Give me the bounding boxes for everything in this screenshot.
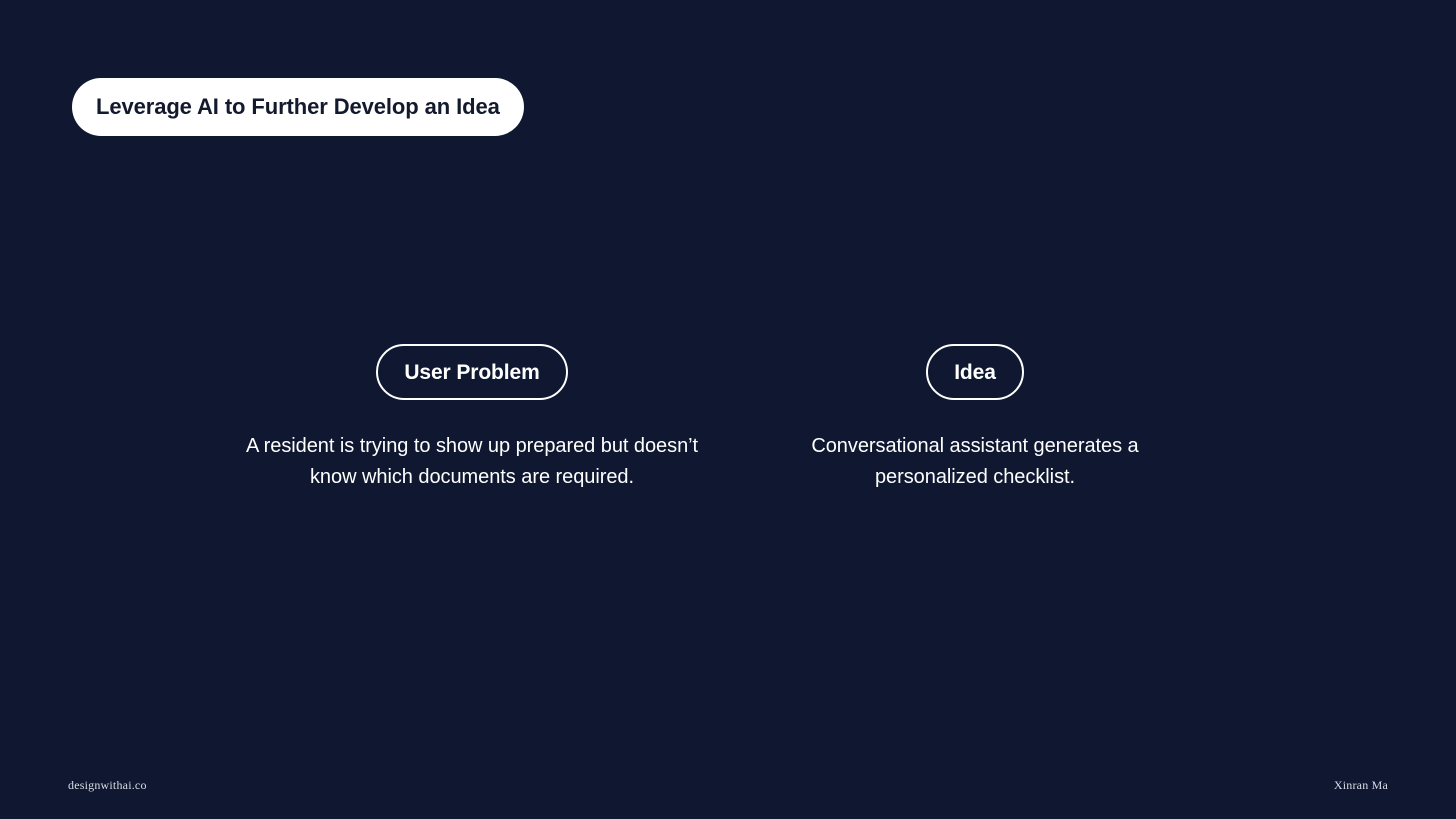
idea-body-text: Conversational assistant generates a per… bbox=[785, 431, 1165, 493]
slide-canvas: Leverage AI to Further Develop an Idea U… bbox=[0, 0, 1456, 819]
footer-site-credit: designwithai.co bbox=[68, 779, 147, 791]
idea-pill: Idea bbox=[926, 344, 1024, 400]
footer-author-credit: Xinran Ma bbox=[1334, 779, 1388, 791]
page-title: Leverage AI to Further Develop an Idea bbox=[96, 96, 500, 118]
column-idea: Idea Conversational assistant generates … bbox=[775, 344, 1175, 493]
slide-footer: designwithai.co Xinran Ma bbox=[0, 759, 1456, 819]
user-problem-body-text: A resident is trying to show up prepared… bbox=[242, 431, 702, 493]
user-problem-pill-label: User Problem bbox=[404, 362, 539, 383]
column-user-problem: User Problem A resident is trying to sho… bbox=[232, 344, 712, 493]
slide-title-pill: Leverage AI to Further Develop an Idea bbox=[72, 78, 524, 136]
idea-pill-label: Idea bbox=[954, 362, 996, 383]
user-problem-pill: User Problem bbox=[376, 344, 567, 400]
